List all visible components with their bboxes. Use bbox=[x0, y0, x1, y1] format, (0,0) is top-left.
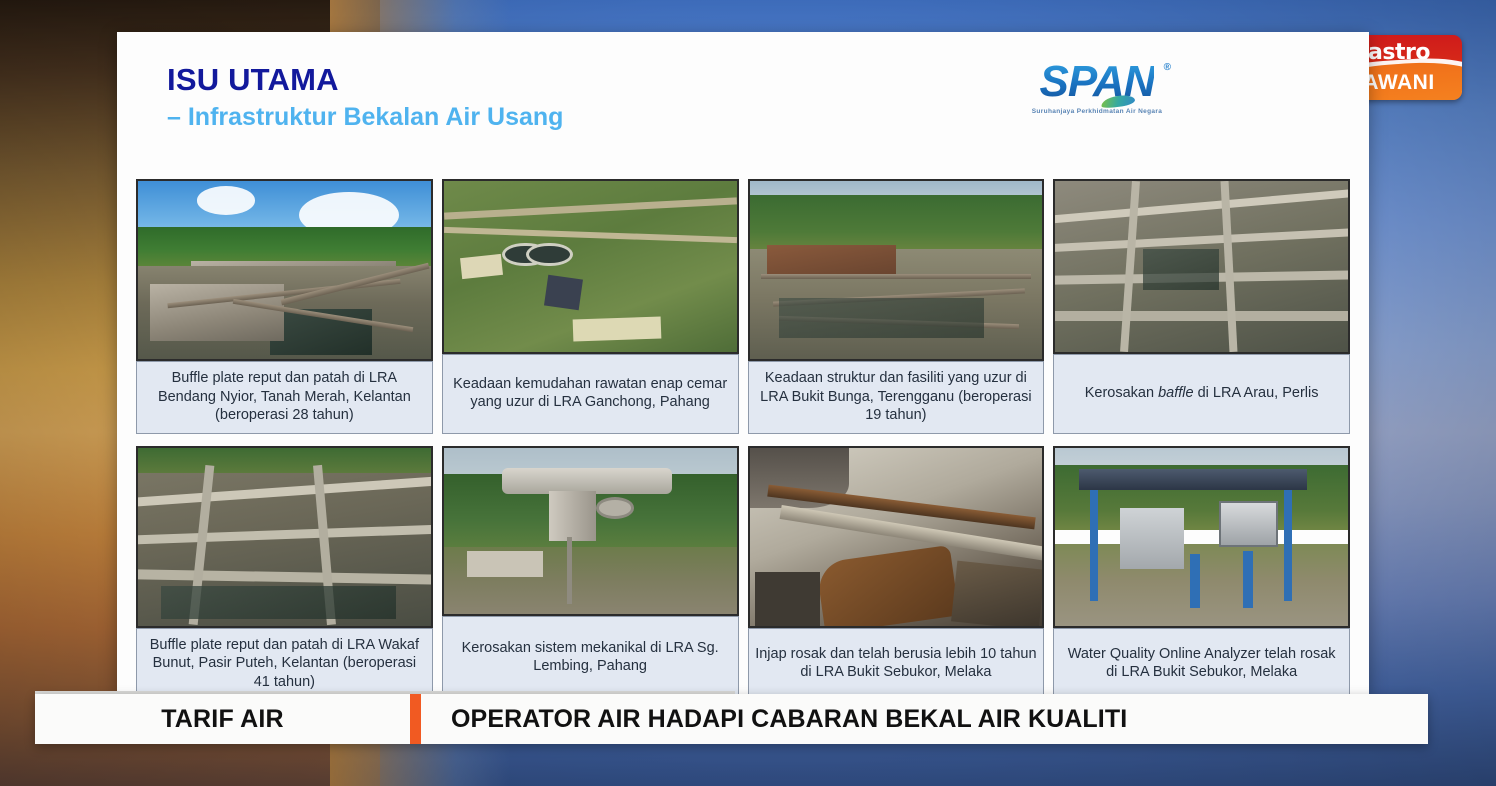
photo-2-image bbox=[442, 179, 739, 354]
photo-card-3: Keadaan struktur dan fasiliti yang uzur … bbox=[748, 179, 1045, 434]
mechanism-housing bbox=[549, 491, 596, 541]
rusted-structure bbox=[767, 245, 896, 273]
span-wordmark: SPAN bbox=[1040, 60, 1155, 104]
presentation-slide: ISU UTAMA – Infrastruktur Bekalan Air Us… bbox=[117, 32, 1369, 694]
support-pipe bbox=[1243, 551, 1253, 608]
beam bbox=[761, 274, 1030, 279]
canopy-post bbox=[1090, 490, 1098, 600]
photo-card-2: Keadaan kemudahan rawatan enap cemar yan… bbox=[442, 179, 739, 434]
slide-heading-block: ISU UTAMA – Infrastruktur Bekalan Air Us… bbox=[167, 64, 563, 130]
treeline bbox=[138, 448, 431, 473]
photo-7-caption: Injap rosak dan telah berusia lebih 10 t… bbox=[748, 628, 1045, 701]
photo-1-caption: Buffle plate reput dan patah di LRA Bend… bbox=[136, 361, 433, 434]
ticker-headline: OPERATOR AIR HADAPI CABARAN BEKAL AIR KU… bbox=[421, 705, 1428, 734]
photo-card-4: Kerosakan baffle di LRA Arau, Perlis bbox=[1053, 179, 1350, 434]
photo-8-image bbox=[1053, 446, 1350, 628]
circular-tank bbox=[526, 243, 573, 267]
news-ticker: TARIF AIR OPERATOR AIR HADAPI CABARAN BE… bbox=[35, 694, 1428, 744]
concrete-tank bbox=[467, 551, 543, 578]
canopy-post bbox=[1284, 490, 1292, 600]
span-tagline: Suruhanjaya Perkhidmatan Air Negara bbox=[1017, 108, 1177, 115]
photo-3-caption: Keadaan struktur dan fasiliti yang uzur … bbox=[748, 361, 1045, 434]
support-pipe bbox=[1190, 554, 1200, 607]
photo-1-image bbox=[136, 179, 433, 361]
photo-card-1: Buffle plate reput dan patah di LRA Bend… bbox=[136, 179, 433, 434]
drying-bed bbox=[572, 316, 661, 341]
photo-card-7: Injap rosak dan telah berusia lebih 10 t… bbox=[748, 446, 1045, 701]
water bbox=[1143, 249, 1219, 290]
shadow-area bbox=[755, 572, 819, 625]
photo-card-8: Water Quality Online Analyzer telah rosa… bbox=[1053, 446, 1350, 701]
photo-8-caption: Water Quality Online Analyzer telah rosa… bbox=[1053, 628, 1350, 701]
photo-3-image bbox=[748, 179, 1045, 361]
photo-4-image bbox=[1053, 179, 1350, 354]
water bbox=[161, 586, 395, 618]
ticker-category: TARIF AIR bbox=[35, 705, 410, 734]
photo-5-caption: Buffle plate reput dan patah di LRA Waka… bbox=[136, 628, 433, 701]
photo-card-5: Buffle plate reput dan patah di LRA Waka… bbox=[136, 446, 433, 701]
slide-title: ISU UTAMA bbox=[167, 64, 563, 97]
analyzer-panel bbox=[1219, 501, 1278, 547]
water bbox=[779, 298, 984, 337]
baffle-wall bbox=[1053, 311, 1350, 321]
analyzer-cabinet bbox=[1120, 508, 1184, 569]
photo-6-image bbox=[442, 446, 739, 616]
photo-5-image bbox=[136, 446, 433, 628]
cloud bbox=[197, 186, 256, 214]
subtitle-dash: – bbox=[167, 103, 181, 131]
span-logo: SPAN ® Suruhanjaya Perkhidmatan Air Nega… bbox=[1017, 60, 1177, 115]
photo-2-caption: Keadaan kemudahan rawatan enap cemar yan… bbox=[442, 354, 739, 434]
canopy-roof bbox=[1079, 469, 1307, 490]
building-roof-dark bbox=[544, 274, 583, 309]
slide-subtitle: – Infrastruktur Bekalan Air Usang bbox=[167, 104, 563, 130]
ticker-separator bbox=[410, 694, 421, 744]
photo-6-caption: Kerosakan sistem mekanikal di LRA Sg. Le… bbox=[442, 616, 739, 701]
photo-4-caption: Kerosakan baffle di LRA Arau, Perlis bbox=[1053, 354, 1350, 434]
photo-7-image bbox=[748, 446, 1045, 628]
support-post bbox=[567, 537, 572, 603]
photo-card-6: Kerosakan sistem mekanikal di LRA Sg. Le… bbox=[442, 446, 739, 701]
registered-trademark-icon: ® bbox=[1164, 62, 1171, 73]
subtitle-text: Infrastruktur Bekalan Air Usang bbox=[188, 103, 564, 131]
photo-grid: Buffle plate reput dan patah di LRA Bend… bbox=[136, 179, 1350, 700]
ground bbox=[1055, 544, 1348, 626]
handwheel-icon bbox=[596, 497, 634, 519]
bracket bbox=[951, 561, 1044, 628]
